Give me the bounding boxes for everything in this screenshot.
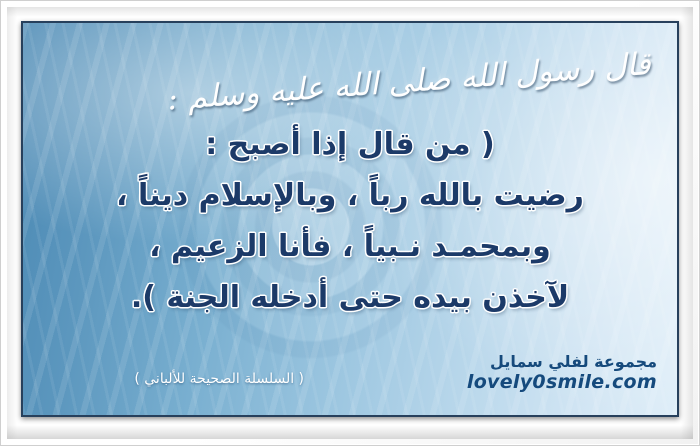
hadith-line-4: لآخذن بيده حتى أدخله الجنة ). xyxy=(51,272,649,323)
image-card: قال رسول الله صلى الله عليه وسلم : ( من … xyxy=(0,0,700,446)
brand-arabic-name: مجموعة لفلي سمايل xyxy=(467,352,657,371)
hadith-line-2: رضيت بالله رباً ، وبالإسلام ديناً ، xyxy=(51,170,649,221)
hadith-attribution-calligraphy: قال رسول الله صلى الله عليه وسلم : xyxy=(167,49,653,115)
hadith-line-1: ( من قال إذا أصبح : xyxy=(51,119,649,170)
hadith-line-3: وبمحمـد نـبياً ، فأنا الزعيم ، xyxy=(51,221,649,272)
hadith-text-block: ( من قال إذا أصبح : رضيت بالله رباً ، وب… xyxy=(23,119,677,323)
site-branding[interactable]: مجموعة لفلي سمايل lovely0smile.com xyxy=(467,352,657,393)
hadith-source-reference: ( السلسلة الصحيحة للألباني ) xyxy=(23,371,415,388)
artwork-canvas: قال رسول الله صلى الله عليه وسلم : ( من … xyxy=(21,21,679,417)
white-mat-frame: قال رسول الله صلى الله عليه وسلم : ( من … xyxy=(7,7,693,439)
brand-website-url[interactable]: lovely0smile.com xyxy=(467,371,657,393)
